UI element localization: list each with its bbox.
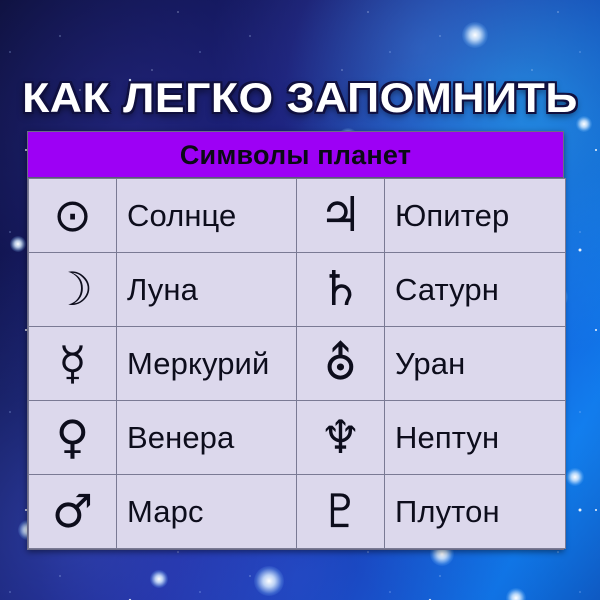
pluto-label: Плутон [385,475,566,549]
star-glow [10,236,26,252]
mercury-symbol: ☿ [29,327,117,401]
table-row: ⊙ Солнце ♃ Юпитер [29,179,566,253]
table-row: ♂ Марс ♇ Плутон [29,475,566,549]
star-glow [566,468,584,486]
star-glow [506,588,526,600]
table-header-title: Символы планет [28,132,563,178]
mercury-label: Меркурий [117,327,297,401]
star-glow [462,22,488,48]
star-glow [254,566,284,596]
jupiter-label: Юпитер [385,179,566,253]
pluto-symbol: ♇ [297,475,385,549]
moon-symbol: ☽ [29,253,117,327]
neptune-symbol: ♆ [297,401,385,475]
table-row: ☿ Меркурий ⛢ Уран [29,327,566,401]
star-glow [150,570,168,588]
jupiter-symbol: ♃ [297,179,385,253]
symbols-grid: ⊙ Солнце ♃ Юпитер ☽ Луна ♄ Сатурн ☿ Мерк… [28,178,566,549]
venus-symbol: ♀ [29,401,117,475]
saturn-label: Сатурн [385,253,566,327]
table-row: ♀ Венера ♆ Нептун [29,401,566,475]
sun-symbol: ⊙ [29,179,117,253]
neptune-label: Нептун [385,401,566,475]
mars-symbol: ♂ [29,475,117,549]
mars-label: Марс [117,475,297,549]
venus-label: Венера [117,401,297,475]
moon-label: Луна [117,253,297,327]
planet-symbols-table: Символы планет ⊙ Солнце ♃ Юпитер ☽ Луна … [27,131,564,550]
sun-label: Солнце [117,179,297,253]
uranus-label: Уран [385,327,566,401]
saturn-symbol: ♄ [297,253,385,327]
page-title: КАК ЛЕГКО ЗАПОМНИТЬ [0,76,600,120]
uranus-symbol: ⛢ [297,327,385,401]
table-row: ☽ Луна ♄ Сатурн [29,253,566,327]
